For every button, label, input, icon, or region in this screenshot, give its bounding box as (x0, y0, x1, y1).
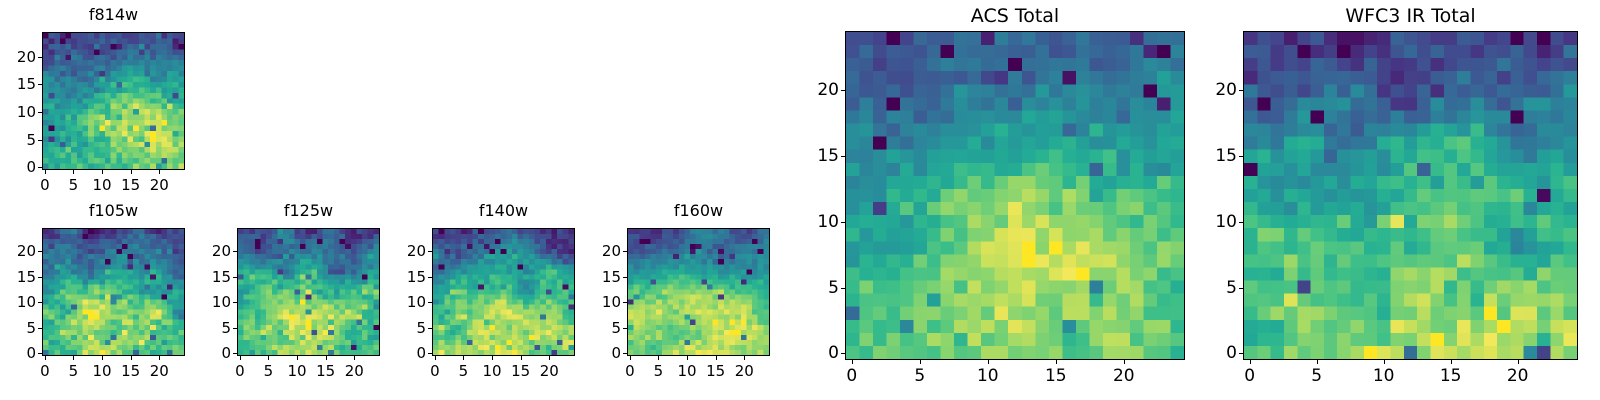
x-tick-mark (73, 356, 74, 360)
y-tick-label: 15 (197, 268, 231, 286)
x-tick-mark (354, 356, 355, 360)
y-tick-mark (38, 57, 42, 58)
x-tick-label: 10 (483, 362, 502, 380)
y-tick-label: 0 (587, 344, 621, 362)
heatmap-canvas-wfc3_ir_total (1244, 32, 1577, 359)
x-tick-mark (45, 170, 46, 174)
heatmap-f125w (237, 228, 380, 356)
y-tick-label: 5 (392, 319, 426, 337)
x-tick-label: 15 (1440, 366, 1462, 386)
y-tick-label: 15 (392, 268, 426, 286)
panel-title-acs_total: ACS Total (845, 4, 1185, 28)
x-tick-label: 5 (459, 362, 469, 380)
x-tick-label: 0 (235, 362, 245, 380)
y-tick-label: 20 (392, 242, 426, 260)
y-tick-mark (233, 328, 237, 329)
x-tick-mark (852, 360, 853, 364)
y-tick-mark (38, 277, 42, 278)
x-tick-mark (1056, 360, 1057, 364)
heatmap-canvas-f160w (628, 229, 769, 355)
y-tick-label: 5 (805, 278, 839, 298)
x-tick-label: 0 (846, 366, 857, 386)
x-tick-label: 20 (1113, 366, 1135, 386)
x-tick-mark (297, 356, 298, 360)
x-tick-label: 5 (69, 362, 79, 380)
y-tick-label: 10 (587, 293, 621, 311)
x-tick-mark (549, 356, 550, 360)
panel-title-f160w: f160w (627, 200, 770, 221)
x-tick-mark (920, 360, 921, 364)
y-tick-mark (1239, 353, 1243, 354)
x-tick-label: 0 (40, 176, 50, 194)
x-tick-mark (102, 170, 103, 174)
x-tick-mark (1317, 360, 1318, 364)
y-tick-mark (233, 302, 237, 303)
y-tick-label: 0 (2, 158, 36, 176)
x-tick-label: 10 (1373, 366, 1395, 386)
y-tick-mark (233, 353, 237, 354)
x-tick-label: 0 (625, 362, 635, 380)
panel-title-f125w: f125w (237, 200, 380, 221)
y-tick-mark (428, 302, 432, 303)
panel-f105w: f105w0510152005101520 (0, 200, 191, 390)
x-tick-label: 10 (288, 362, 307, 380)
y-tick-label: 15 (1203, 146, 1237, 166)
x-tick-label: 20 (150, 362, 169, 380)
y-tick-mark (233, 277, 237, 278)
x-tick-mark (988, 360, 989, 364)
y-tick-label: 0 (392, 344, 426, 362)
x-tick-mark (744, 356, 745, 360)
heatmap-f140w (432, 228, 575, 356)
x-tick-mark (1250, 360, 1251, 364)
x-tick-mark (1384, 360, 1385, 364)
y-tick-mark (38, 353, 42, 354)
heatmap-canvas-f814w (43, 33, 184, 169)
y-tick-label: 15 (805, 146, 839, 166)
y-tick-mark (38, 302, 42, 303)
x-tick-mark (131, 356, 132, 360)
y-tick-mark (38, 84, 42, 85)
x-tick-label: 15 (511, 362, 530, 380)
y-tick-mark (1239, 156, 1243, 157)
y-tick-mark (38, 140, 42, 141)
panel-title-f140w: f140w (432, 200, 575, 221)
x-tick-mark (73, 170, 74, 174)
x-tick-mark (1518, 360, 1519, 364)
x-tick-label: 5 (69, 176, 79, 194)
x-tick-label: 5 (914, 366, 925, 386)
x-tick-mark (463, 356, 464, 360)
y-tick-mark (38, 251, 42, 252)
y-tick-mark (623, 277, 627, 278)
y-tick-label: 0 (2, 344, 36, 362)
y-tick-mark (428, 353, 432, 354)
y-tick-label: 5 (1203, 278, 1237, 298)
y-tick-label: 20 (805, 80, 839, 100)
y-tick-mark (1239, 288, 1243, 289)
y-tick-label: 10 (2, 103, 36, 121)
y-tick-mark (841, 156, 845, 157)
y-tick-mark (623, 302, 627, 303)
x-tick-label: 10 (678, 362, 697, 380)
x-tick-mark (716, 356, 717, 360)
y-tick-mark (233, 251, 237, 252)
y-tick-label: 5 (587, 319, 621, 337)
x-tick-mark (102, 356, 103, 360)
heatmap-canvas-acs_total (846, 32, 1184, 359)
panel-title-f814w: f814w (42, 4, 185, 25)
x-tick-mark (240, 356, 241, 360)
panel-f140w: f140w0510152005101520 (390, 200, 581, 390)
y-tick-mark (841, 90, 845, 91)
panel-wfc3_ir_total: WFC3 IR Total0510152005101520 (1195, 4, 1584, 394)
y-tick-mark (623, 353, 627, 354)
y-tick-label: 5 (2, 319, 36, 337)
y-tick-mark (1239, 90, 1243, 91)
y-tick-mark (428, 277, 432, 278)
x-tick-label: 15 (316, 362, 335, 380)
heatmap-canvas-f125w (238, 229, 379, 355)
x-tick-label: 20 (540, 362, 559, 380)
y-tick-mark (38, 328, 42, 329)
y-tick-label: 0 (805, 343, 839, 363)
x-tick-label: 20 (345, 362, 364, 380)
y-tick-label: 10 (2, 293, 36, 311)
x-tick-label: 10 (93, 176, 112, 194)
x-tick-mark (630, 356, 631, 360)
x-tick-label: 15 (121, 362, 140, 380)
panel-f160w: f160w0510152005101520 (585, 200, 776, 390)
x-tick-label: 20 (735, 362, 754, 380)
x-tick-label: 10 (93, 362, 112, 380)
heatmap-f814w (42, 32, 185, 170)
y-tick-label: 5 (197, 319, 231, 337)
heatmap-canvas-f140w (433, 229, 574, 355)
y-tick-mark (428, 328, 432, 329)
x-tick-label: 5 (1311, 366, 1322, 386)
x-tick-label: 5 (654, 362, 664, 380)
y-tick-mark (1239, 222, 1243, 223)
x-tick-label: 10 (977, 366, 999, 386)
x-tick-mark (492, 356, 493, 360)
y-tick-label: 10 (392, 293, 426, 311)
y-tick-mark (841, 353, 845, 354)
x-tick-mark (326, 356, 327, 360)
x-tick-mark (159, 356, 160, 360)
x-tick-mark (45, 356, 46, 360)
x-tick-mark (1451, 360, 1452, 364)
x-tick-mark (131, 170, 132, 174)
x-tick-mark (521, 356, 522, 360)
y-tick-mark (623, 251, 627, 252)
x-tick-label: 15 (121, 176, 140, 194)
y-tick-label: 20 (1203, 80, 1237, 100)
x-tick-label: 0 (430, 362, 440, 380)
y-tick-label: 15 (2, 75, 36, 93)
y-tick-label: 20 (587, 242, 621, 260)
x-tick-mark (658, 356, 659, 360)
x-tick-mark (687, 356, 688, 360)
x-tick-mark (435, 356, 436, 360)
x-tick-mark (159, 170, 160, 174)
x-tick-label: 20 (150, 176, 169, 194)
x-tick-mark (268, 356, 269, 360)
x-tick-label: 0 (40, 362, 50, 380)
panel-title-f105w: f105w (42, 200, 185, 221)
y-tick-mark (38, 112, 42, 113)
y-tick-label: 15 (2, 268, 36, 286)
y-tick-label: 10 (1203, 212, 1237, 232)
y-tick-label: 20 (2, 242, 36, 260)
panel-f814w: f814w0510152005101520 (0, 4, 191, 204)
y-tick-mark (38, 167, 42, 168)
y-tick-label: 15 (587, 268, 621, 286)
x-tick-label: 15 (706, 362, 725, 380)
y-tick-label: 20 (197, 242, 231, 260)
heatmap-canvas-f105w (43, 229, 184, 355)
y-tick-label: 10 (805, 212, 839, 232)
x-tick-label: 20 (1507, 366, 1529, 386)
y-tick-mark (841, 222, 845, 223)
y-tick-label: 5 (2, 131, 36, 149)
heatmap-f105w (42, 228, 185, 356)
y-tick-label: 0 (197, 344, 231, 362)
y-tick-label: 20 (2, 48, 36, 66)
x-tick-mark (1124, 360, 1125, 364)
x-tick-label: 5 (264, 362, 274, 380)
y-tick-label: 0 (1203, 343, 1237, 363)
y-tick-mark (841, 288, 845, 289)
y-tick-mark (623, 328, 627, 329)
panel-title-wfc3_ir_total: WFC3 IR Total (1243, 4, 1578, 28)
heatmap-f160w (627, 228, 770, 356)
heatmap-wfc3_ir_total (1243, 31, 1578, 360)
y-tick-label: 10 (197, 293, 231, 311)
x-tick-label: 0 (1244, 366, 1255, 386)
heatmap-acs_total (845, 31, 1185, 360)
x-tick-label: 15 (1045, 366, 1067, 386)
panel-acs_total: ACS Total0510152005101520 (797, 4, 1191, 394)
y-tick-mark (428, 251, 432, 252)
panel-f125w: f125w0510152005101520 (195, 200, 386, 390)
